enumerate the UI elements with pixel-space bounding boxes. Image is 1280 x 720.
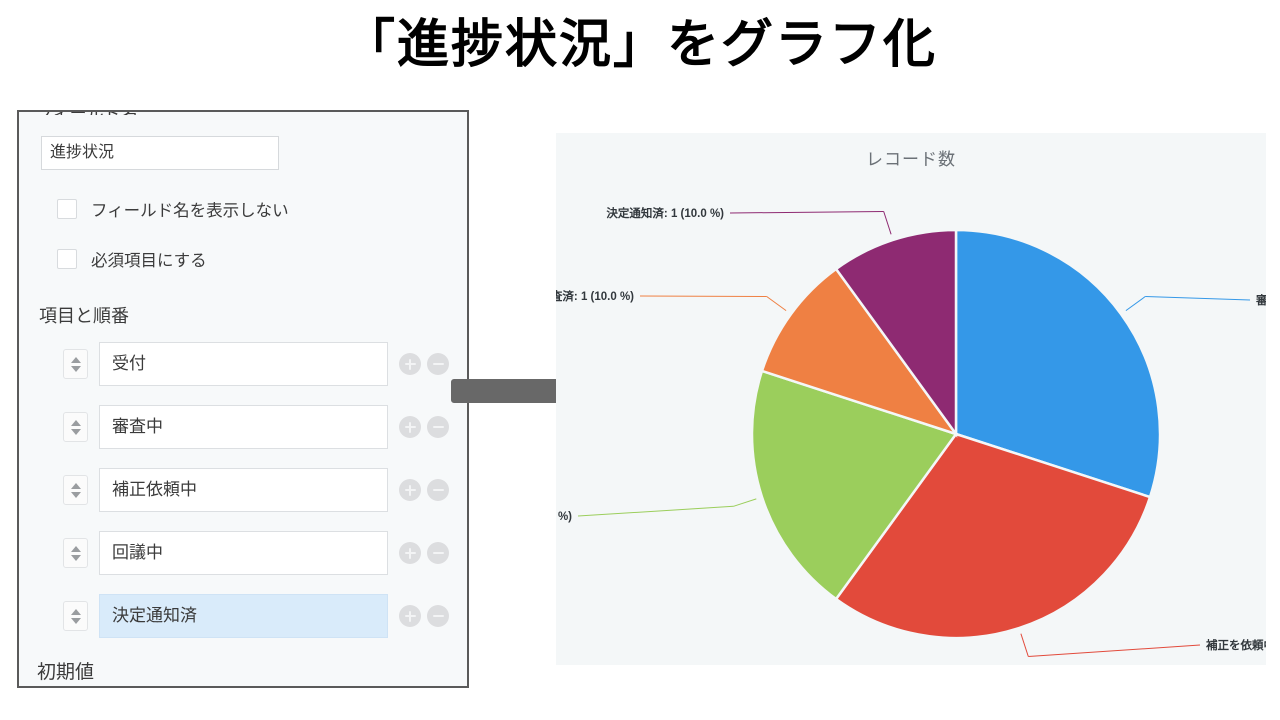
- chevron-down-icon: [71, 618, 81, 624]
- pie-chart: 審査中: 3 (30.0 %)補正を依頼中: 3 (30.0 %)回議中: 2 …: [556, 133, 1266, 665]
- chevron-up-icon: [71, 546, 81, 552]
- reorder-handle-icon[interactable]: [63, 601, 88, 631]
- add-item-button[interactable]: [399, 605, 421, 627]
- item-row: 審査中: [19, 405, 467, 449]
- reorder-handle-icon[interactable]: [63, 349, 88, 379]
- item-value-input[interactable]: 審査中: [99, 405, 388, 449]
- chevron-up-icon: [71, 420, 81, 426]
- checkbox-hide-field-name[interactable]: フィールド名を表示しない: [57, 197, 289, 221]
- remove-item-button[interactable]: [427, 542, 449, 564]
- field-name-label-cutoff: フィールド名: [36, 110, 138, 115]
- add-item-button[interactable]: [399, 353, 421, 375]
- checkbox-icon[interactable]: [57, 249, 77, 269]
- add-item-button[interactable]: [399, 479, 421, 501]
- chevron-up-icon: [71, 483, 81, 489]
- chevron-up-icon: [71, 357, 81, 363]
- chevron-down-icon: [71, 492, 81, 498]
- leader-line: [1126, 297, 1145, 311]
- checkbox-hide-field-name-label: フィールド名を表示しない: [91, 197, 289, 221]
- item-row: 決定通知済: [19, 594, 467, 638]
- leader-line: [730, 212, 884, 214]
- remove-item-button[interactable]: [427, 479, 449, 501]
- item-row: 補正依頼中: [19, 468, 467, 512]
- field-settings-panel: フィールド名 進捗状況 フィールド名を表示しない 必須項目にする 項目と順番 受…: [17, 110, 469, 688]
- leader-line: [767, 297, 786, 311]
- item-value-input[interactable]: 受付: [99, 342, 388, 386]
- remove-item-button[interactable]: [427, 416, 449, 438]
- leader-line: [884, 212, 891, 235]
- pie-slice-label: 補正を依頼中: 3 (30.0 %): [1206, 638, 1266, 652]
- items-and-order-heading: 項目と順番: [39, 302, 129, 328]
- leader-line: [1145, 297, 1250, 301]
- leader-line: [640, 296, 767, 297]
- item-row: 回議中: [19, 531, 467, 575]
- leader-line: [1028, 645, 1200, 657]
- pie-slices: [752, 230, 1160, 638]
- pie-slice-label: 審査中: 3 (30.0 %): [1255, 293, 1266, 307]
- chevron-up-icon: [71, 609, 81, 615]
- checkbox-required-field-label: 必須項目にする: [91, 247, 207, 271]
- add-item-button[interactable]: [399, 542, 421, 564]
- pie-slice-label: 審査済: 1 (10.0 %): [556, 289, 634, 303]
- chevron-down-icon: [71, 555, 81, 561]
- remove-item-button[interactable]: [427, 353, 449, 375]
- item-value-input[interactable]: 補正依頼中: [99, 468, 388, 512]
- default-value-heading: 初期値: [37, 657, 94, 684]
- leader-line: [578, 506, 734, 516]
- remove-item-button[interactable]: [427, 605, 449, 627]
- reorder-handle-icon[interactable]: [63, 538, 88, 568]
- pie-chart-panel: レコード数 審査中: 3 (30.0 %)補正を依頼中: 3 (30.0 %)回…: [556, 133, 1266, 665]
- slide-canvas: 「進捗状況」をグラフ化 フィールド名 進捗状況 フィールド名を表示しない 必須項…: [0, 0, 1280, 720]
- reorder-handle-icon[interactable]: [63, 412, 88, 442]
- checkbox-required-field[interactable]: 必須項目にする: [57, 247, 207, 271]
- page-title: 「進捗状況」をグラフ化: [0, 14, 1280, 76]
- checkbox-icon[interactable]: [57, 199, 77, 219]
- leader-line: [734, 499, 757, 506]
- pie-slice-label: 回議中: 2 (20.0 %): [556, 509, 572, 523]
- item-value-input-selected[interactable]: 決定通知済: [99, 594, 388, 638]
- item-value-input[interactable]: 回議中: [99, 531, 388, 575]
- item-row: 受付: [19, 342, 467, 386]
- field-name-input[interactable]: 進捗状況: [41, 136, 279, 170]
- item-rows-list: 受付 審査中: [19, 342, 467, 657]
- pie-slice-label: 決定通知済: 1 (10.0 %): [606, 206, 724, 220]
- reorder-handle-icon[interactable]: [63, 475, 88, 505]
- chevron-down-icon: [71, 366, 81, 372]
- add-item-button[interactable]: [399, 416, 421, 438]
- chevron-down-icon: [71, 429, 81, 435]
- leader-line: [1021, 634, 1028, 657]
